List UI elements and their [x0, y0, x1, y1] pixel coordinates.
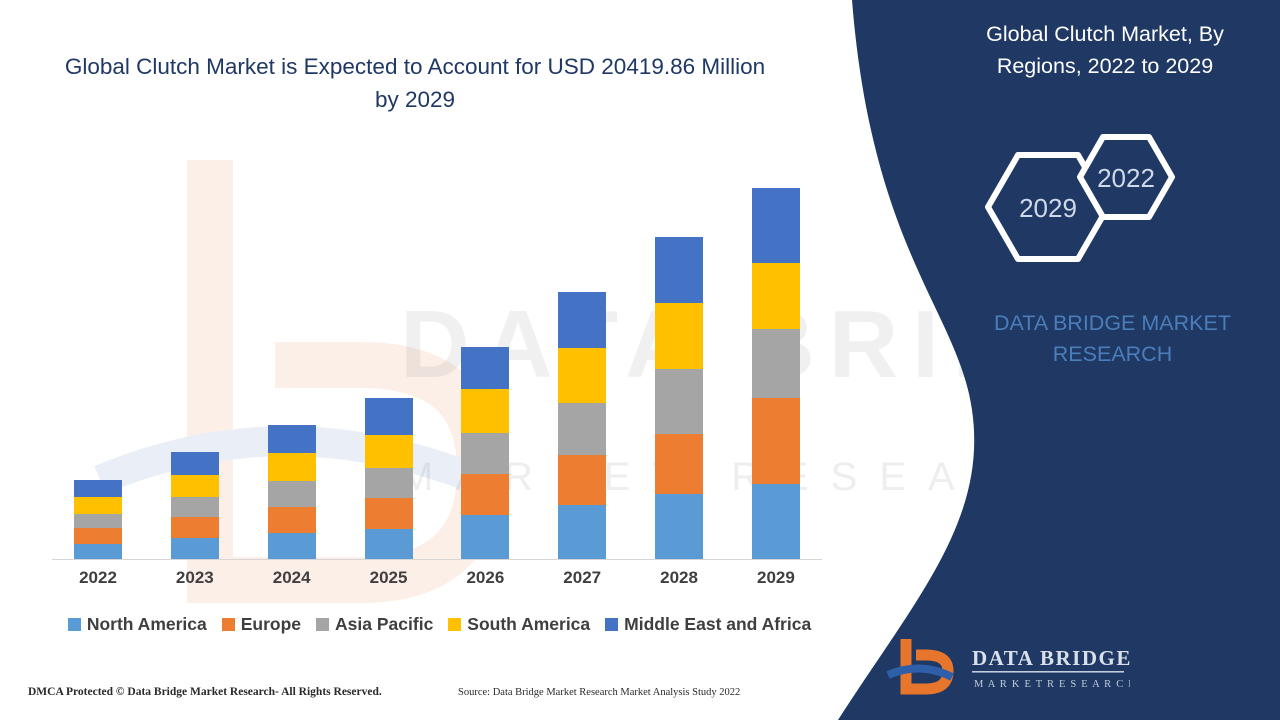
x-axis-label: 2029 — [740, 568, 812, 588]
bar-segment — [74, 544, 122, 560]
legend-item[interactable]: Europe — [222, 614, 301, 635]
x-axis-label: 2024 — [256, 568, 328, 588]
bar-segment — [268, 533, 316, 560]
legend-label: Asia Pacific — [335, 614, 433, 635]
bar-segment — [655, 494, 703, 560]
bar-segment — [74, 497, 122, 514]
dbmr-logo: DATA BRIDGE M A R K E T R E S E A R C H — [880, 635, 1130, 697]
bar-segment — [74, 528, 122, 544]
x-axis-labels: 20222023202420252026202720282029 — [52, 568, 822, 588]
legend-label: North America — [87, 614, 207, 635]
brand-panel-content: Global Clutch Market, By Regions, 2022 t… — [820, 0, 1280, 720]
bar-column — [74, 480, 122, 560]
bar-segment — [752, 188, 800, 263]
panel-title: Global Clutch Market, By Regions, 2022 t… — [950, 18, 1260, 82]
bar-column — [655, 237, 703, 560]
chart-panel: Global Clutch Market is Expected to Acco… — [0, 0, 860, 720]
logo-divider — [972, 671, 1124, 673]
bar-segment — [268, 507, 316, 533]
bar-segment — [655, 237, 703, 303]
logo-b-glyph — [906, 639, 948, 689]
bar-segment — [655, 369, 703, 434]
bar-column — [365, 398, 413, 560]
legend-swatch-icon — [222, 618, 235, 631]
x-axis-line — [52, 559, 822, 560]
chart-title: Global Clutch Market is Expected to Acco… — [55, 50, 775, 116]
bar-segment — [752, 484, 800, 560]
bar-segment — [365, 529, 413, 560]
legend-item[interactable]: North America — [68, 614, 207, 635]
bar-segment — [461, 389, 509, 433]
chart-legend: North AmericaEuropeAsia PacificSouth Ame… — [52, 614, 827, 635]
bar-column — [461, 347, 509, 560]
stacked-bars-group — [52, 170, 822, 560]
bar-segment — [74, 514, 122, 528]
bar-column — [752, 188, 800, 560]
brand-panel: Global Clutch Market, By Regions, 2022 t… — [820, 0, 1280, 720]
legend-swatch-icon — [68, 618, 81, 631]
bar-segment — [752, 263, 800, 329]
year-hexagon-group: 2029 2022 — [970, 125, 1190, 290]
bar-segment — [655, 434, 703, 494]
bar-segment — [74, 480, 122, 497]
x-axis-label: 2028 — [643, 568, 715, 588]
source-note: Source: Data Bridge Market Research Mark… — [458, 687, 740, 698]
legend-swatch-icon — [448, 618, 461, 631]
logo-title: DATA BRIDGE — [972, 646, 1130, 670]
x-axis-label: 2022 — [62, 568, 134, 588]
bar-segment — [752, 398, 800, 484]
legend-swatch-icon — [605, 618, 618, 631]
bar-segment — [752, 329, 800, 398]
bar-segment — [461, 347, 509, 389]
legend-label: Europe — [241, 614, 301, 635]
bar-segment — [558, 505, 606, 560]
bar-segment — [171, 475, 219, 497]
bar-segment — [558, 348, 606, 403]
bar-segment — [558, 455, 606, 505]
brand-name-line1: DATA BRIDGE MARKET — [960, 308, 1265, 339]
bar-segment — [268, 481, 316, 507]
bar-segment — [365, 435, 413, 468]
brand-name: DATA BRIDGE MARKET RESEARCH — [960, 308, 1265, 370]
bar-segment — [171, 517, 219, 538]
bar-column — [171, 452, 219, 560]
legend-item[interactable]: Asia Pacific — [316, 614, 433, 635]
bar-segment — [171, 452, 219, 475]
legend-swatch-icon — [316, 618, 329, 631]
bar-segment — [558, 403, 606, 455]
bar-segment — [461, 433, 509, 474]
bar-segment — [171, 497, 219, 517]
x-axis-label: 2027 — [546, 568, 618, 588]
hexagon-2029-label: 2029 — [1019, 193, 1077, 223]
legend-item[interactable]: South America — [448, 614, 590, 635]
bar-column — [558, 292, 606, 560]
x-axis-label: 2026 — [449, 568, 521, 588]
bar-segment — [461, 515, 509, 560]
x-axis-label: 2023 — [159, 568, 231, 588]
legend-label: Middle East and Africa — [624, 614, 811, 635]
bar-segment — [558, 292, 606, 348]
logo-swoosh-glyph — [888, 668, 952, 677]
legend-item[interactable]: Middle East and Africa — [605, 614, 811, 635]
infographic-root: DATA BRIDGE MARKET RESEARCH Global Clutc… — [0, 0, 1280, 720]
brand-name-line2: RESEARCH — [960, 339, 1265, 370]
legend-label: South America — [467, 614, 590, 635]
dmca-notice: DMCA Protected © Data Bridge Market Rese… — [28, 686, 382, 698]
bar-segment — [461, 474, 509, 515]
chart-plot-area — [52, 170, 822, 560]
bar-segment — [171, 538, 219, 560]
bar-segment — [655, 303, 703, 369]
bar-segment — [268, 425, 316, 453]
bar-segment — [365, 498, 413, 529]
logo-subtitle: M A R K E T R E S E A R C H — [974, 679, 1130, 690]
bar-segment — [365, 398, 413, 435]
bar-segment — [365, 468, 413, 498]
x-axis-label: 2025 — [353, 568, 425, 588]
bar-column — [268, 425, 316, 560]
bar-segment — [268, 453, 316, 481]
hexagon-2022-label: 2022 — [1097, 163, 1155, 193]
